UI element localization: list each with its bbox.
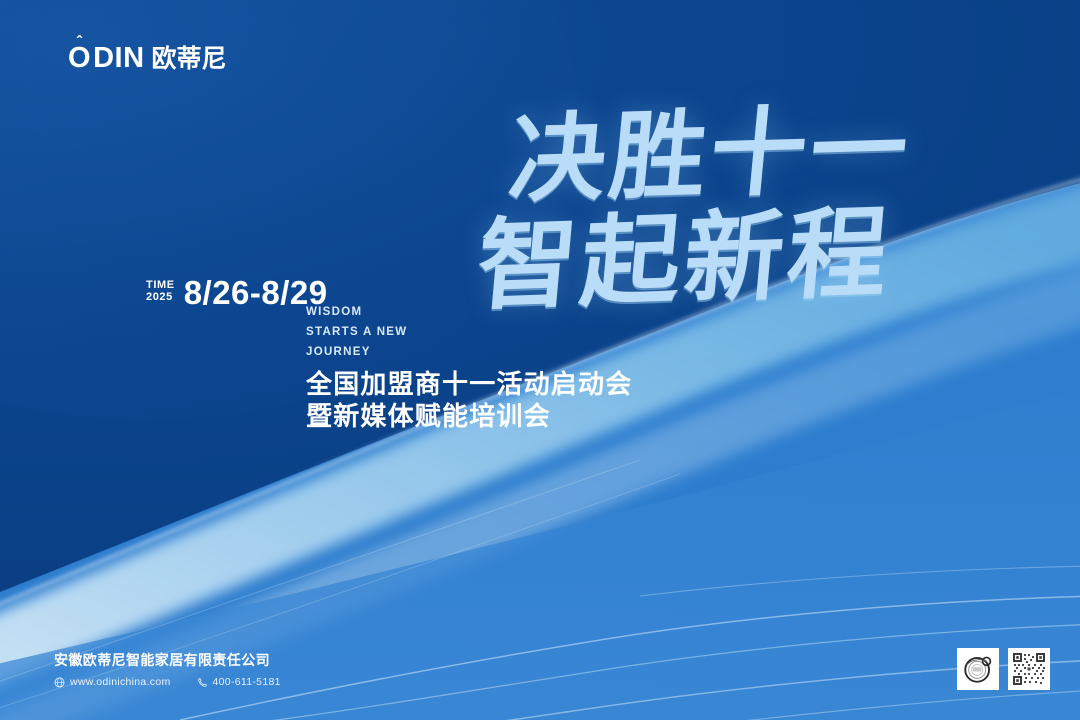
phone-icon [197, 677, 208, 688]
code-tiles [957, 648, 1050, 690]
contact-list: www.odinichina.com 400-611-5181 [54, 676, 281, 688]
date-label-year: 2025 [146, 291, 175, 303]
logo-latin-text: DIN [93, 44, 144, 73]
website-contact[interactable]: www.odinichina.com [54, 676, 171, 688]
phone-text: 400-611-5181 [213, 676, 281, 688]
event-date: TIME 2025 8/26-8/29 [146, 276, 328, 309]
seal-badge-tile[interactable] [957, 648, 999, 690]
website-text: www.odinichina.com [70, 676, 171, 688]
english-tagline: WISDOM STARTS A NEW JOURNEY [306, 302, 407, 362]
company-name: 安徽欧蒂尼智能家居有限责任公司 [54, 653, 281, 668]
tagline-line-1: WISDOM [306, 302, 407, 322]
logo-chinese-text: 欧蒂尼 [152, 47, 227, 72]
subtitle-line-2: 暨新媒体赋能培训会 [306, 400, 632, 432]
qr-code-tile[interactable] [1008, 648, 1050, 690]
globe-icon [54, 677, 65, 688]
date-label-time: TIME [146, 279, 175, 291]
subtitle-line-1: 全国加盟商十一活动启动会 [306, 368, 632, 400]
circumflex-icon: ˆ [77, 35, 83, 51]
phone-contact[interactable]: 400-611-5181 [197, 676, 281, 688]
logo-o-mark: ˆO [68, 44, 91, 73]
tagline-line-3: JOURNEY [306, 342, 407, 362]
seal-badge-icon [961, 652, 995, 686]
qr-code-icon [1012, 652, 1046, 686]
footer: 安徽欧蒂尼智能家居有限责任公司 www.odinichina.com 400-6… [54, 653, 281, 688]
event-poster: ˆO DIN 欧蒂尼 决胜十一 智起新程 TIME 2025 8/26-8/29… [0, 0, 1080, 720]
headline: 决胜十一 智起新程 [264, 108, 904, 315]
tagline-line-2: STARTS A NEW [306, 322, 407, 342]
date-label-block: TIME 2025 [146, 279, 175, 307]
event-subtitle: 全国加盟商十一活动启动会 暨新媒体赋能培训会 [306, 368, 632, 432]
brand-logo: ˆO DIN 欧蒂尼 [68, 44, 227, 73]
